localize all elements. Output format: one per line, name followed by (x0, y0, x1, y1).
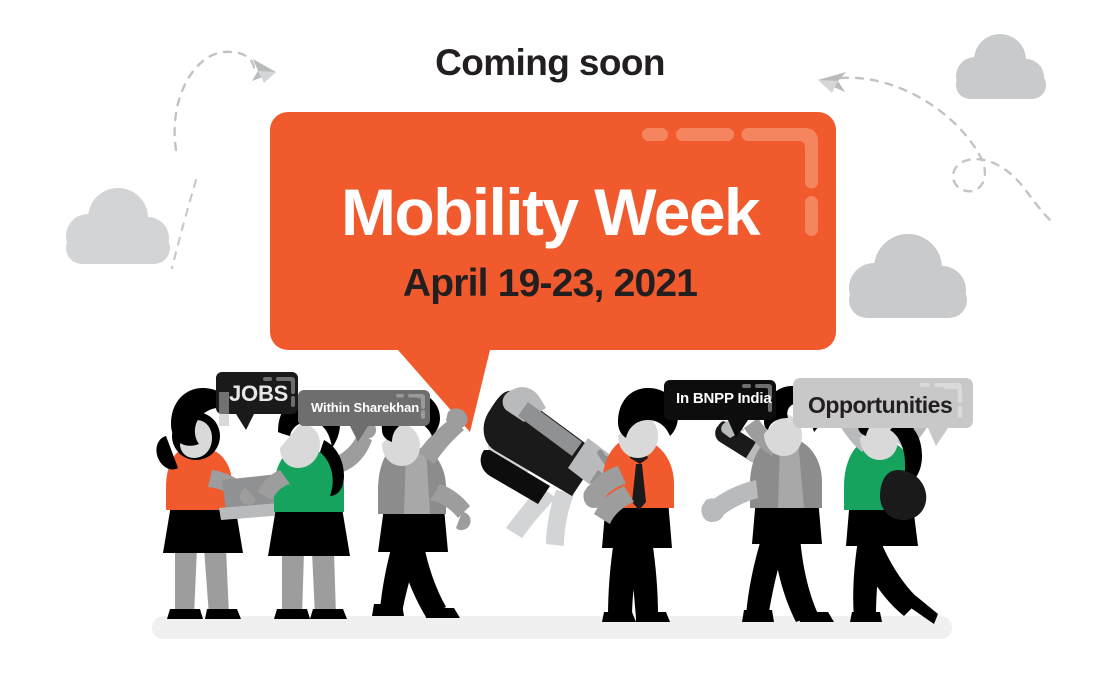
event-title: Mobility Week (0, 174, 1100, 250)
placard-within-sharekhan-label: Within Sharekhan (311, 400, 419, 415)
placard-within-sharekhan (298, 390, 430, 442)
placard-bnpp-india (664, 380, 776, 438)
placard-jobs-label: JOBS (229, 381, 288, 407)
promo-poster: Coming soon Mobility Week April 19-23, 2… (0, 0, 1100, 673)
event-dates: April 19-23, 2021 (0, 262, 1100, 306)
placards-layer (0, 0, 1100, 673)
placard-bnpp-india-label: In BNPP India (676, 390, 771, 407)
page-headline: Coming soon (0, 42, 1100, 84)
placard-opportunities-label: Opportunities (808, 392, 952, 419)
